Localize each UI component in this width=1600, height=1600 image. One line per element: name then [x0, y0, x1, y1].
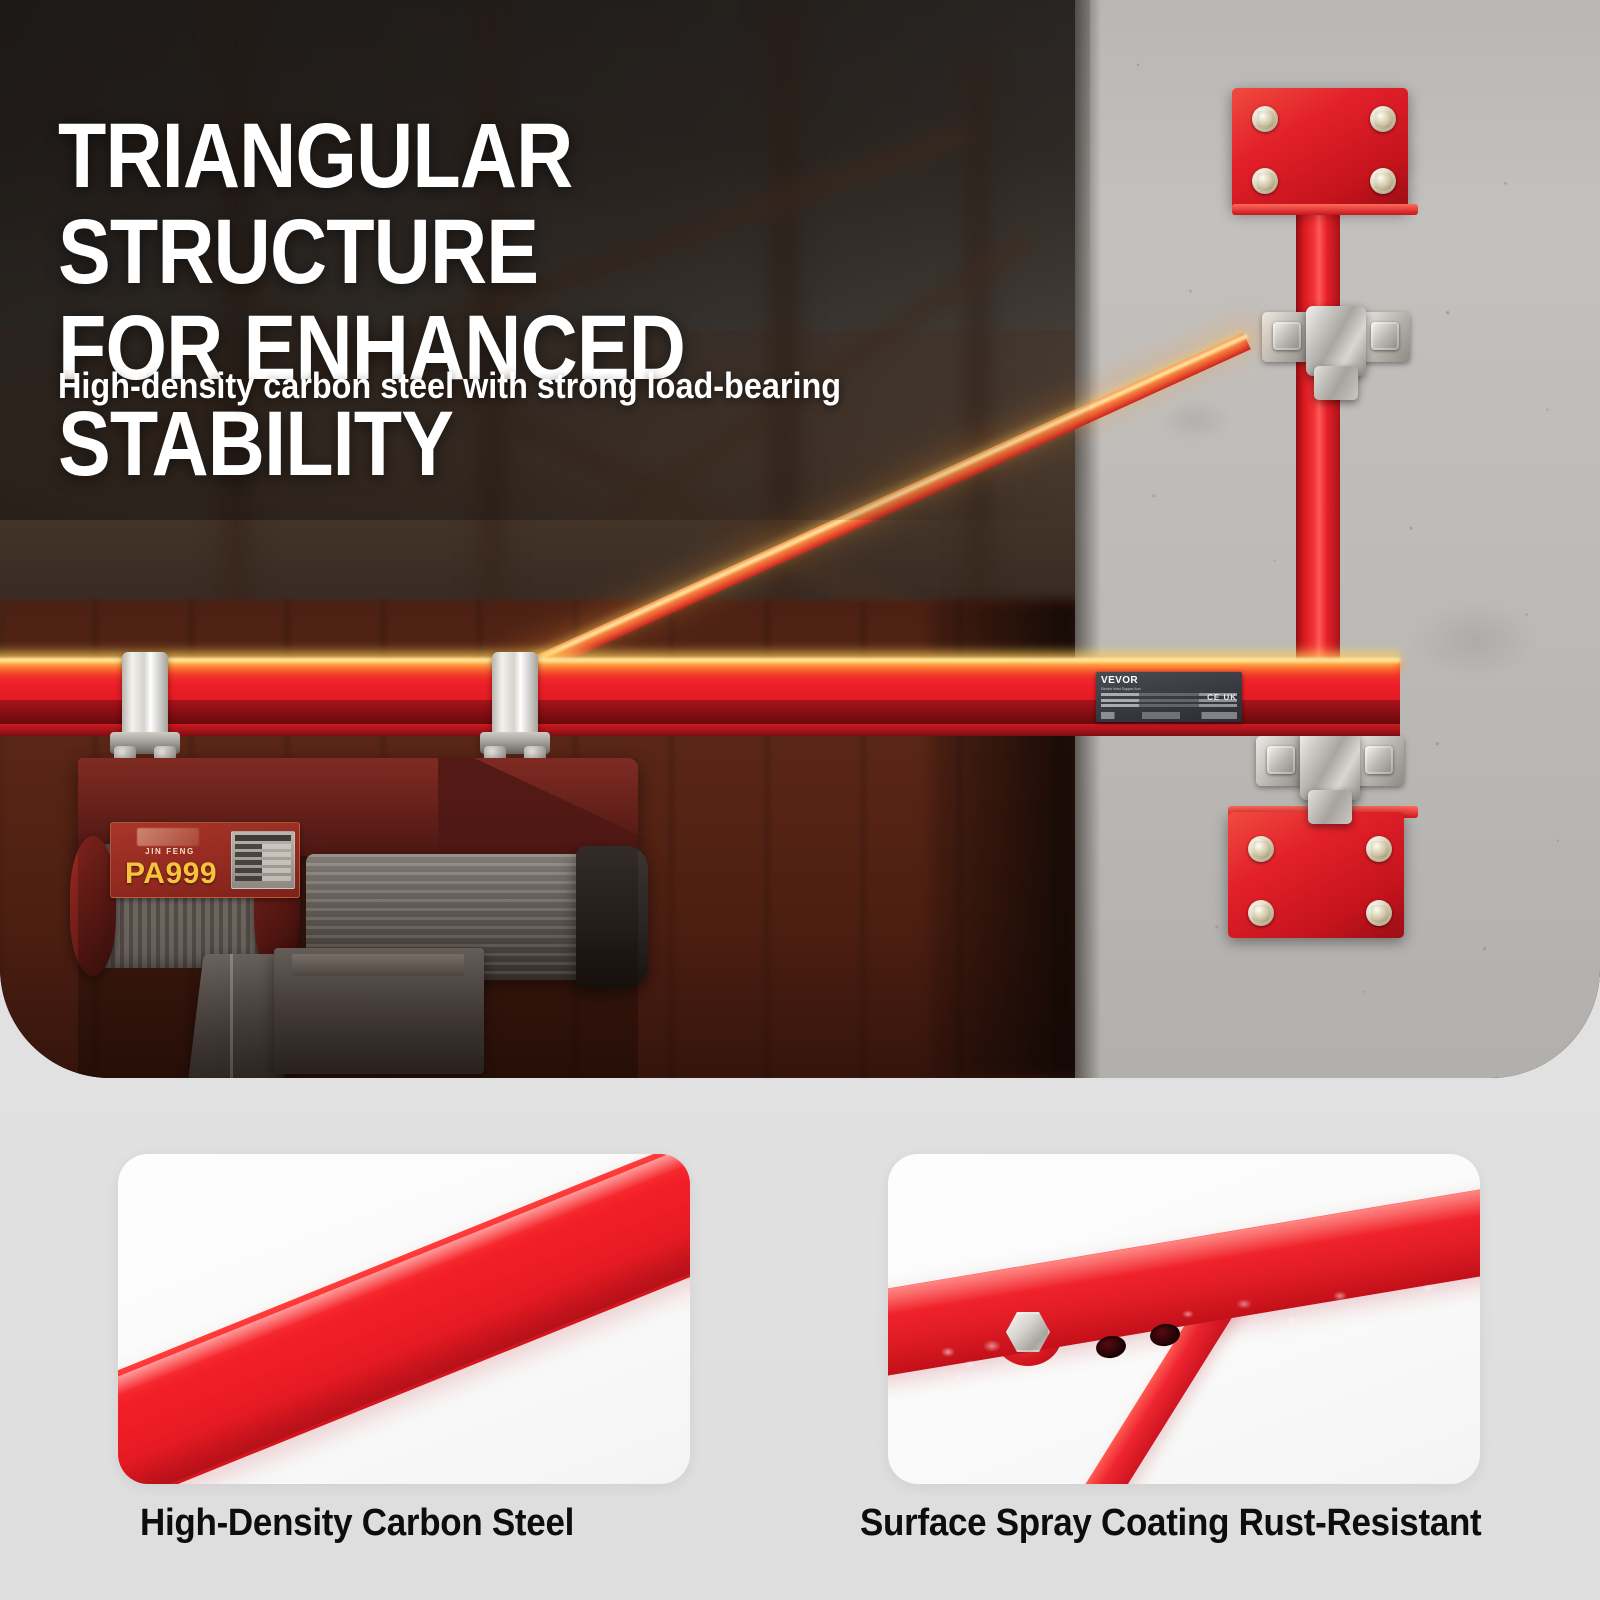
- mount-bolt-icon: [1370, 168, 1396, 194]
- collar-hub: [1308, 790, 1352, 824]
- hoist-steel-cable: [230, 954, 233, 1078]
- mount-bolt-icon: [1366, 836, 1392, 862]
- feature-cards-section: High-Density Carbon Steel Surface Spray …: [0, 1100, 1600, 1600]
- mount-bolt-icon: [1248, 836, 1274, 862]
- hoist-model-text: PA999: [125, 857, 241, 891]
- arm-glow-core: [0, 658, 1400, 663]
- collar-nut-icon: [1267, 746, 1295, 774]
- collar-nut-icon: [1371, 322, 1399, 350]
- hoist-brand-text: JIN FENG: [133, 847, 207, 856]
- feature-card-carbon-steel: [118, 1154, 690, 1484]
- mount-bolt-icon: [1370, 106, 1396, 132]
- vevor-subtitle-text: Electric Hoist Support Arm: [1101, 687, 1237, 691]
- gearbox-nameplate: [292, 954, 464, 976]
- vevor-spec-label: VEVOR Electric Hoist Support Arm CE UK: [1096, 672, 1242, 722]
- feature-card-rust-resistant: [888, 1154, 1480, 1484]
- feature-caption-rust-resistant: Surface Spray Coating Rust-Resistant: [860, 1500, 1504, 1546]
- top-mount-lip: [1232, 204, 1418, 215]
- hoist-hanger-clamp: [122, 652, 168, 770]
- collar-nut-icon: [1365, 746, 1393, 774]
- page-title: TRIANGULAR STRUCTURE FOR ENHANCED STABIL…: [58, 108, 927, 492]
- vevor-brand-text: VEVOR: [1101, 676, 1237, 686]
- mount-bolt-icon: [1366, 900, 1392, 926]
- electric-hoist: [78, 758, 638, 1078]
- clamp-strap: [122, 652, 168, 738]
- mount-bolt-icon: [1248, 900, 1274, 926]
- mount-bolt-icon: [1252, 106, 1278, 132]
- feature-caption-carbon-steel: High-Density Carbon Steel: [140, 1500, 655, 1546]
- headline-line-1: TRIANGULAR STRUCTURE: [58, 105, 572, 303]
- mount-bolt-icon: [1252, 168, 1278, 194]
- jinfeng-logo-icon: [137, 828, 199, 846]
- hero-banner: VEVOR Electric Hoist Support Arm CE UK: [0, 0, 1600, 1078]
- motor-end-cap: [576, 846, 648, 988]
- hoist-spec-plate: [231, 831, 295, 889]
- arm-beam-bottom-flange: [0, 724, 1400, 736]
- hoist-hanger-clamp: [492, 652, 538, 770]
- ce-mark-icon: CE UK: [1207, 693, 1237, 702]
- vevor-footer-row: [1101, 712, 1237, 719]
- page-subtitle: High-density carbon steel with strong lo…: [58, 364, 1012, 408]
- hoist-brand-label: JIN FENG PA999: [110, 822, 300, 898]
- clamp-strap: [492, 652, 538, 738]
